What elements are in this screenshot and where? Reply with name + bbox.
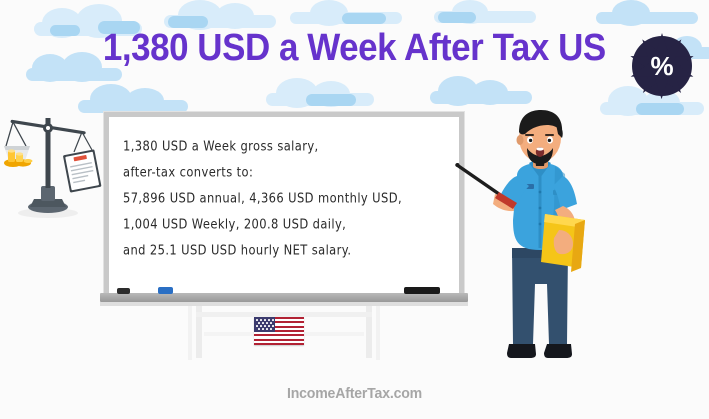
site-footer: IncomeAfterTax.com [21,385,687,402]
page-title: 1,380 USD a Week After Tax US [103,27,606,69]
whiteboard-leg-left-outer [188,300,192,360]
cloud-icon [426,76,536,106]
pointer-stick-icon [456,163,500,194]
cloud-icon [430,0,540,24]
whiteboard-leg-right-outer [376,300,380,360]
whiteboard-line: and 25.1 USD USD hourly NET salary. [123,235,459,265]
black-marker-icon [117,288,130,294]
cloud-icon [262,78,378,108]
infographic-canvas: 1,380 USD a Week After Tax US % [0,0,709,419]
balance-scale-icon [4,108,108,220]
title-row: 1,380 USD a Week After Tax US [0,22,709,74]
flag-canton [254,317,275,332]
whiteboard-tray-shadow [100,302,468,306]
tax-document-icon [63,149,102,192]
whiteboard-leg-left [196,300,202,358]
presenter-illustration [455,108,630,363]
percent-badge: % [632,36,692,96]
percent-icon: % [632,36,692,96]
whiteboard-eraser-icon [404,287,440,294]
whiteboard-surface: 1,380 USD a Week gross salary, after-tax… [109,117,459,296]
whiteboard-leg-right [366,300,372,358]
us-flag-icon [254,317,304,345]
whiteboard-tray [100,293,468,302]
whiteboard: 1,380 USD a Week gross salary, after-tax… [104,112,464,296]
blue-marker-icon [158,287,173,294]
